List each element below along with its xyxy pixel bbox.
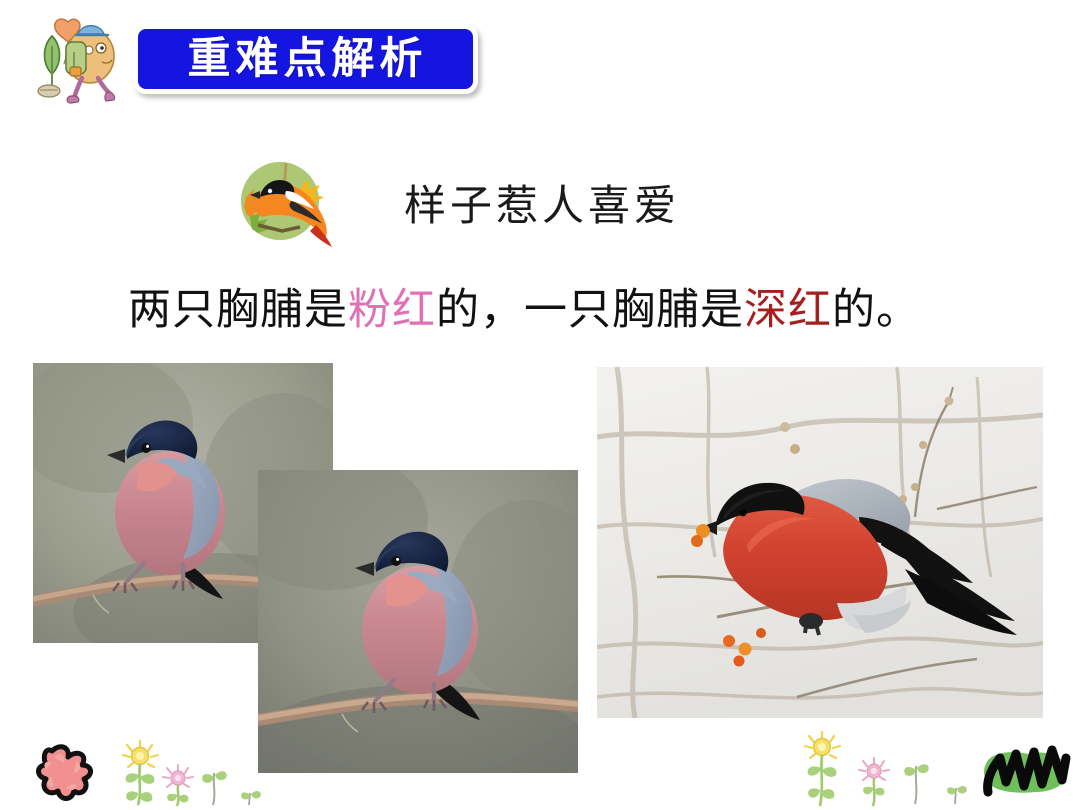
decoration-flowers-left [18, 737, 268, 807]
orange-bird-badge-icon [230, 155, 332, 250]
sprout-small-icon [947, 786, 967, 804]
sentence-line: 两只胸脯是粉红的，一只胸脯是深红的。 [128, 275, 988, 337]
pink-daisy-icon [163, 765, 193, 806]
subtitle-row: 样子惹人喜爱 [230, 152, 750, 252]
pink-daisy-icon [859, 758, 889, 806]
highlight-deepred-word: 深红 [744, 287, 832, 334]
sentence-part-1: 两只胸脯是 [128, 287, 348, 334]
highlight-pink-word: 粉红 [348, 287, 436, 334]
photo-bullfinch-middle [258, 470, 578, 773]
mascot-character-icon [22, 12, 126, 108]
pink-flower-icon [39, 747, 91, 799]
page-title: 重难点解析 [184, 38, 428, 81]
decoration-flowers-right [790, 730, 1075, 808]
yellow-daisy-icon [805, 732, 840, 806]
sentence-part-3: 的。 [832, 287, 920, 334]
sentence-part-2: 的，一只胸脯是 [436, 287, 744, 334]
title-banner: 重难点解析 [133, 24, 478, 94]
sprout-small-icon [241, 791, 261, 805]
subtitle-text: 样子惹人喜爱 [404, 172, 680, 233]
photo-bullfinch-right [597, 367, 1043, 718]
green-grass-scribble-icon [984, 750, 1067, 793]
yellow-daisy-icon [123, 741, 158, 805]
sprout-icon [904, 764, 928, 804]
sprout-icon [202, 771, 226, 805]
